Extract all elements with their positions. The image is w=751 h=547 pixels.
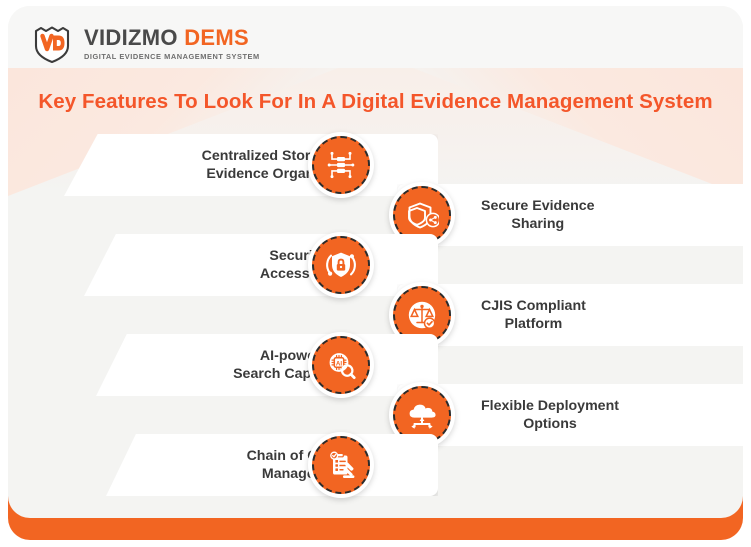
brand-wordmark: VIDIZMO DEMS DIGITAL EVIDENCE MANAGEMENT… xyxy=(84,27,260,60)
brand-logo: VIDIZMO DEMS DIGITAL EVIDENCE MANAGEMENT… xyxy=(30,22,260,66)
infographic-canvas: VIDIZMO DEMS DIGITAL EVIDENCE MANAGEMENT… xyxy=(0,0,751,547)
brand-name: VIDIZMO DEMS xyxy=(84,27,260,49)
feature-card-security-access[interactable]: Security and Access Control xyxy=(84,234,438,296)
feature-card-centralized-storage[interactable]: Centralized Storage and Evidence Organiz… xyxy=(64,134,438,196)
brand-tagline: DIGITAL EVIDENCE MANAGEMENT SYSTEM xyxy=(84,53,260,60)
feature-card-chain-of-custody[interactable]: Chain of Custody Management xyxy=(106,434,438,496)
server-network-icon xyxy=(312,136,370,194)
ai-chip-search-icon: AI xyxy=(312,336,370,394)
feature-icon-badge xyxy=(308,232,374,298)
feature-icon-badge xyxy=(308,132,374,198)
clipboard-gavel-icon xyxy=(312,436,370,494)
feature-label: Flexible Deployment Options xyxy=(481,397,619,433)
shield-vd-icon xyxy=(30,22,74,66)
svg-text:AI: AI xyxy=(336,360,342,367)
page-title: Key Features To Look For In A Digital Ev… xyxy=(8,90,743,114)
shield-lock-icon xyxy=(312,236,370,294)
feature-label: CJIS Compliant Platform xyxy=(481,297,586,333)
feature-icon-badge: AI xyxy=(308,332,374,398)
feature-card-ai-search[interactable]: AI-powered Search Capabilities xyxy=(96,334,438,396)
content-panel: VIDIZMO DEMS DIGITAL EVIDENCE MANAGEMENT… xyxy=(8,6,743,518)
feature-icon-badge xyxy=(308,432,374,498)
feature-label: Secure Evidence Sharing xyxy=(481,197,595,233)
